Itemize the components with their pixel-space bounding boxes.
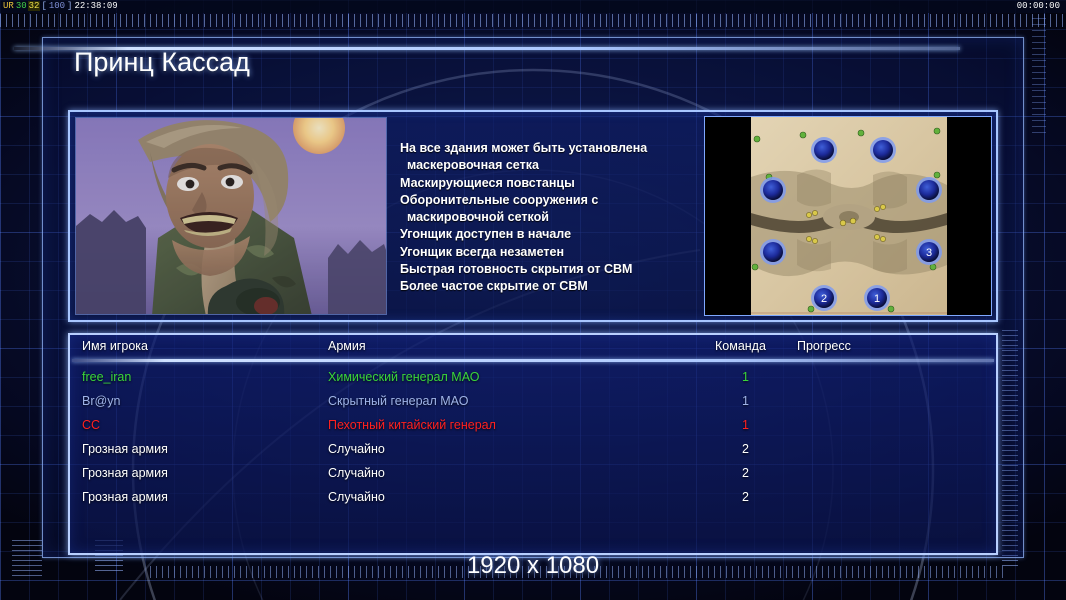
player-list-header: Имя игрока Армия Команда Прогресс bbox=[70, 339, 996, 359]
status-label: UR bbox=[2, 1, 15, 11]
table-row[interactable]: Грозная армия Случайно 2 bbox=[70, 437, 996, 461]
table-row[interactable]: free_iran Химический генерал МАО 1 bbox=[70, 365, 996, 389]
svg-text:2: 2 bbox=[821, 293, 827, 305]
description-line: Оборонительные сооружения с bbox=[400, 192, 700, 209]
svg-text:3: 3 bbox=[926, 247, 932, 259]
player-rows: free_iran Химический генерал МАО 1 Br@yn… bbox=[70, 365, 996, 509]
player-team[interactable]: 1 bbox=[742, 389, 749, 413]
player-army[interactable]: Химический генерал МАО bbox=[328, 365, 479, 389]
player-army[interactable]: Случайно bbox=[328, 461, 385, 485]
status-time: 22:38:09 bbox=[73, 1, 118, 11]
ruler-top bbox=[0, 14, 1066, 27]
column-header-name: Имя игрока bbox=[82, 339, 148, 353]
player-name: Грозная армия bbox=[82, 485, 168, 509]
player-name: Грозная армия bbox=[82, 461, 168, 485]
player-army[interactable]: Скрытный генерал МАО bbox=[328, 389, 468, 413]
minimap-preview[interactable]: 3 2 1 bbox=[704, 116, 992, 316]
player-name: CC bbox=[82, 413, 100, 437]
column-header-progress: Прогресс bbox=[797, 339, 851, 353]
status-value-2: 32 bbox=[28, 1, 41, 11]
description-line: маскеровочная сетка bbox=[400, 157, 700, 174]
player-name: free_iran bbox=[82, 365, 131, 389]
description-line: Угонщик всегда незаметен bbox=[400, 244, 700, 261]
player-team[interactable]: 1 bbox=[742, 413, 749, 437]
status-bar-left: UR3032[100]22:38:09 bbox=[2, 0, 119, 13]
description-line: Маскирующиеся повстанцы bbox=[400, 175, 700, 192]
description-line: На все здания может быть установлена bbox=[400, 140, 700, 157]
table-row[interactable]: Br@yn Скрытный генерал МАО 1 bbox=[70, 389, 996, 413]
column-header-team: Команда bbox=[715, 339, 766, 353]
general-portrait bbox=[75, 117, 387, 315]
player-team[interactable]: 2 bbox=[742, 437, 749, 461]
description-line: маскировочной сеткой bbox=[400, 209, 700, 226]
game-lobby-screen: UR3032[100]22:38:09 00:00:00 Принц Касса… bbox=[0, 0, 1066, 600]
player-army[interactable]: Пехотный китайский генерал bbox=[328, 413, 496, 437]
player-name: Грозная армия bbox=[82, 437, 168, 461]
title-divider bbox=[14, 47, 960, 50]
player-army[interactable]: Случайно bbox=[328, 485, 385, 509]
table-row[interactable]: Грозная армия Случайно 2 bbox=[70, 485, 996, 509]
table-row[interactable]: Грозная армия Случайно 2 bbox=[70, 461, 996, 485]
description-line: Угонщик доступен в начале bbox=[400, 226, 700, 243]
status-bar: UR3032[100]22:38:09 00:00:00 bbox=[0, 0, 1066, 13]
svg-text:1: 1 bbox=[874, 293, 880, 305]
player-team[interactable]: 2 bbox=[742, 461, 749, 485]
player-name: Br@yn bbox=[82, 389, 120, 413]
table-row[interactable]: CC Пехотный китайский генерал 1 bbox=[70, 413, 996, 437]
faction-info-panel: На все здания может быть установлена мас… bbox=[68, 110, 998, 322]
player-team[interactable]: 1 bbox=[742, 365, 749, 389]
faction-description: На все здания может быть установлена мас… bbox=[400, 140, 700, 296]
status-clock: 00:00:00 bbox=[1017, 0, 1060, 13]
ruler-right-secondary bbox=[1032, 18, 1046, 138]
resolution-caption: 1920 x 1080 bbox=[0, 552, 1066, 580]
player-list-panel: Имя игрока Армия Команда Прогресс free_i… bbox=[68, 333, 998, 555]
status-percent: 100 bbox=[48, 1, 66, 11]
status-bracket-open: [ bbox=[40, 1, 47, 11]
column-header-army: Армия bbox=[328, 339, 366, 353]
status-value-1: 30 bbox=[15, 1, 28, 11]
description-line: Более частое скрытие от СВМ bbox=[400, 278, 700, 295]
header-divider bbox=[72, 359, 994, 362]
page-title: Принц Кассад bbox=[74, 47, 250, 78]
description-line: Быстрая готовность скрытия от СВМ bbox=[400, 261, 700, 278]
player-team[interactable]: 2 bbox=[742, 485, 749, 509]
player-army[interactable]: Случайно bbox=[328, 437, 385, 461]
